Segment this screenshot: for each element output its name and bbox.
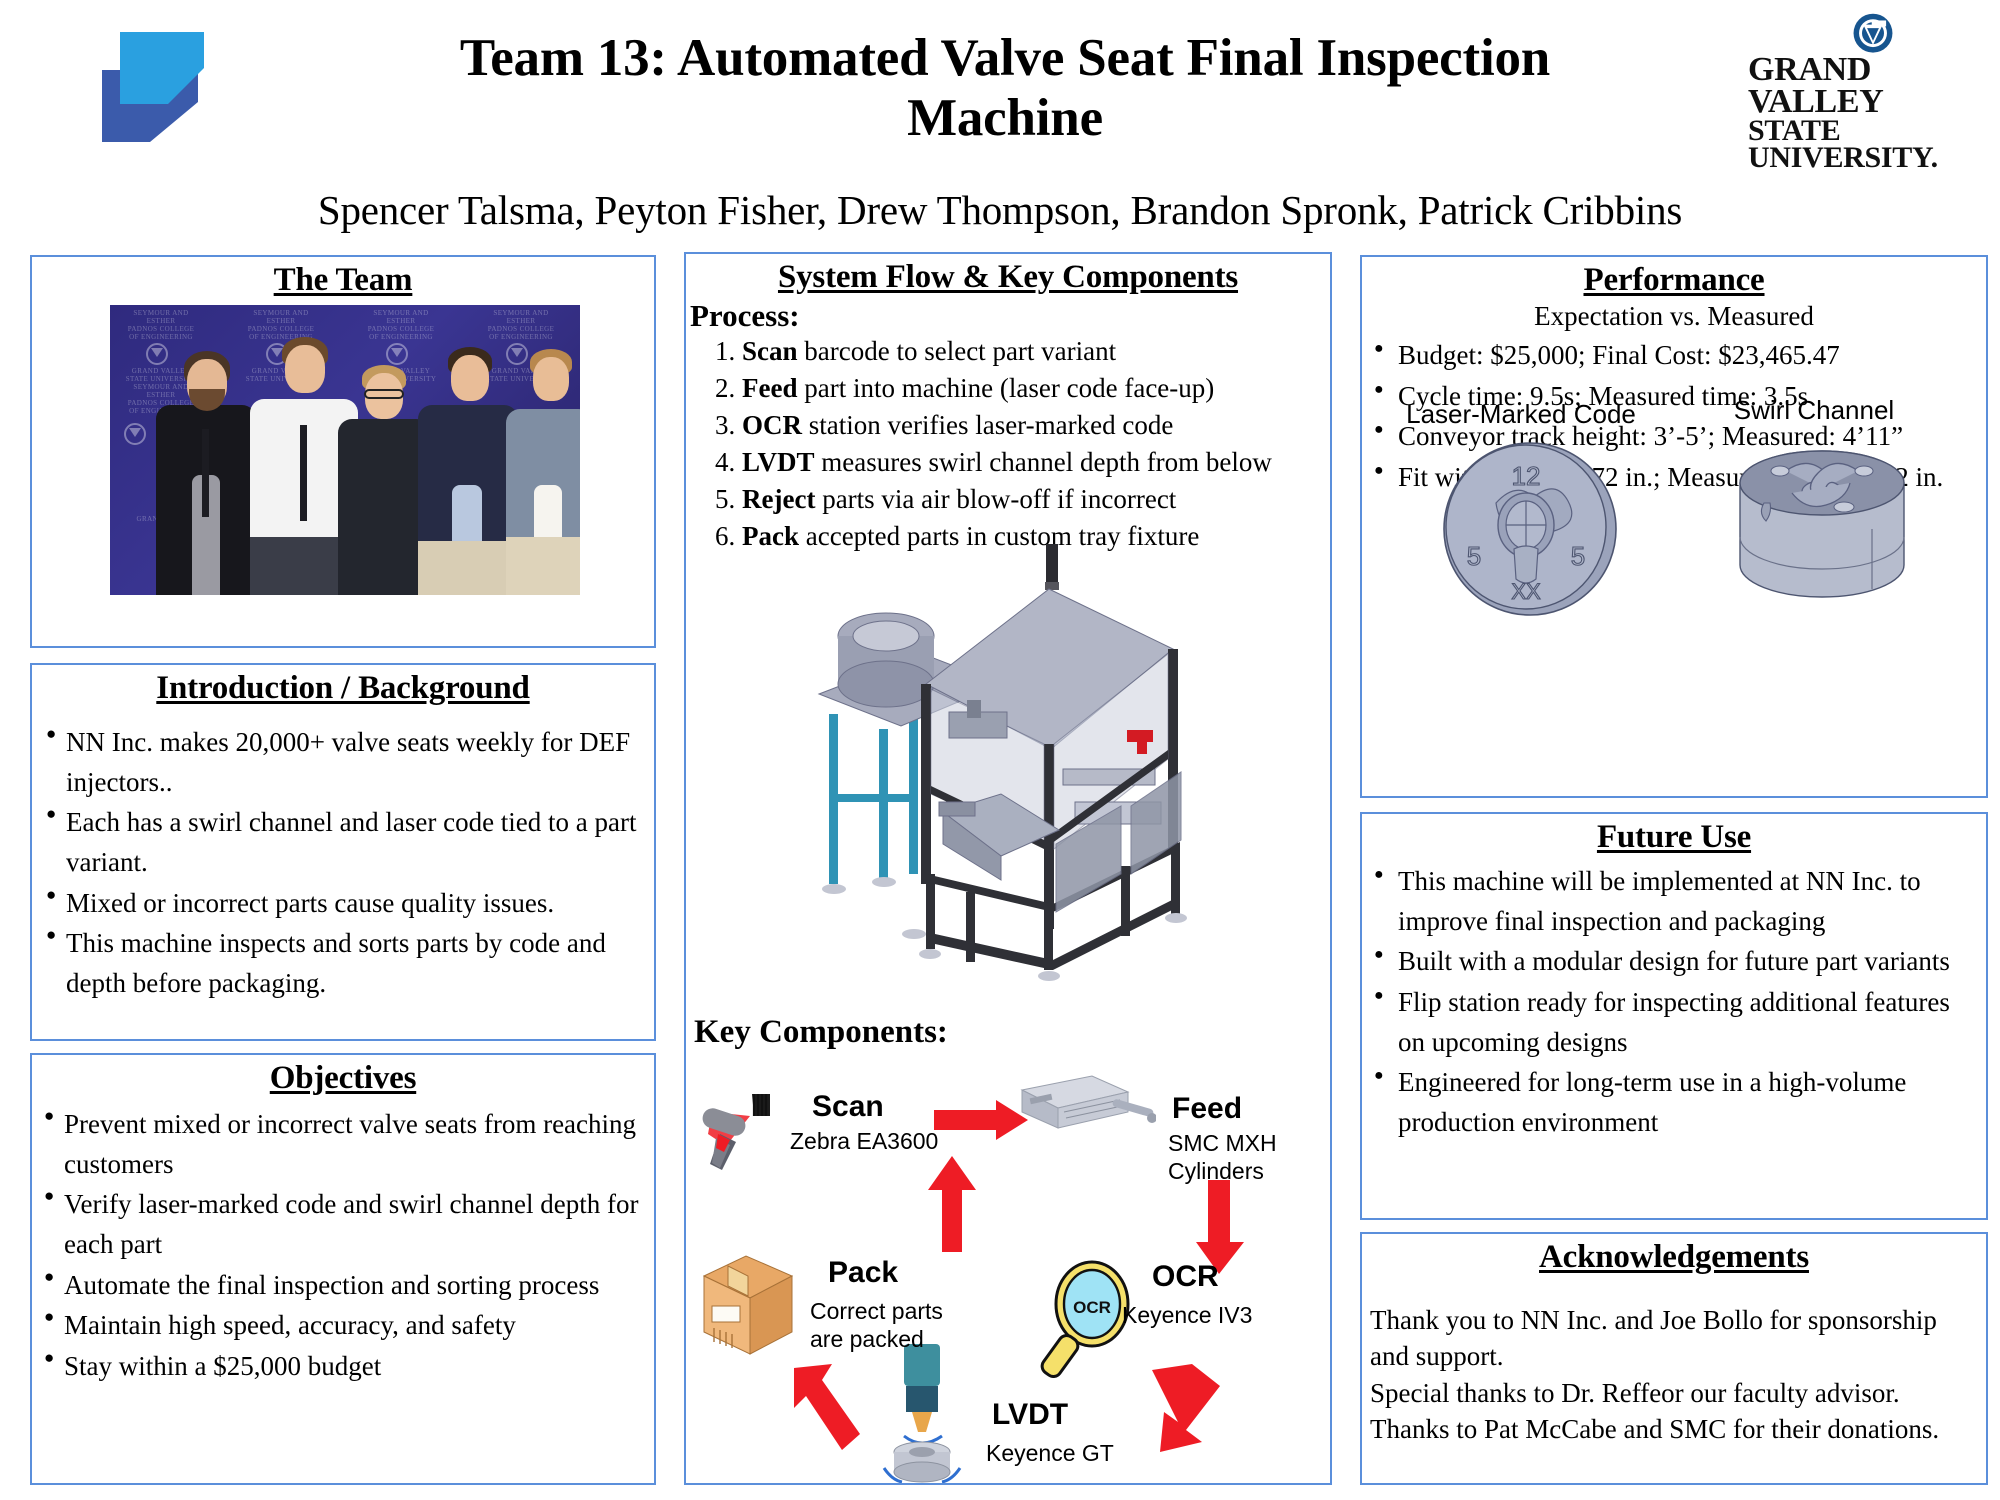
list-item: Prevent mixed or incorrect valve seats f…	[42, 1105, 640, 1184]
ack-line: and support.	[1370, 1338, 1986, 1374]
figure-caption-swirl-channel: Swirl Channel	[1684, 395, 1944, 426]
step-text: barcode to select part variant	[798, 336, 1117, 366]
section-title-objectives: Objectives	[32, 1060, 654, 1097]
laser-marked-code-figure: 12 5 5 XX	[1434, 437, 1630, 617]
component-detail-ocr: Keyence IV3	[1122, 1302, 1252, 1330]
author-list: Spencer Talsma, Peyton Fisher, Drew Thom…	[230, 186, 1770, 234]
key-components-label: Key Components:	[694, 1014, 948, 1051]
gvsu-logo: GRAND VALLEY STATE UNIVERSITY.	[1748, 12, 1998, 172]
step-keyword: LVDT	[742, 447, 815, 477]
panel-future-use: Future Use This machine will be implemen…	[1360, 812, 1988, 1220]
figure-caption-laser-code: Laser-Marked Code	[1386, 399, 1656, 430]
page-title: Team 13: Automated Valve Seat Final Insp…	[370, 28, 1640, 149]
performance-subtitle: Expectation vs. Measured	[1362, 301, 1986, 332]
component-detail-scan: Zebra EA3600	[790, 1128, 938, 1156]
list-item: This machine will be implemented at NN I…	[1368, 862, 1974, 941]
panel-objectives: Objectives Prevent mixed or incorrect va…	[30, 1053, 656, 1485]
step-text: part into machine (laser code face-up)	[797, 373, 1214, 403]
panel-acknowledgements: Acknowledgements Thank you to NN Inc. an…	[1360, 1232, 1988, 1485]
process-step-list: Scan barcode to select part variant Feed…	[716, 334, 1330, 554]
ack-line: Thank you to NN Inc. and Joe Bollo for s…	[1370, 1302, 1986, 1338]
step-text: station verifies laser-marked code	[802, 410, 1173, 440]
list-item: OCR station verifies laser-marked code	[742, 408, 1330, 444]
poster-header: Team 13: Automated Valve Seat Final Insp…	[0, 0, 2000, 250]
step-keyword: Feed	[742, 373, 797, 403]
section-title-introduction: Introduction / Background	[32, 670, 654, 707]
component-label-pack: Pack	[828, 1256, 898, 1290]
list-item: Stay within a $25,000 budget	[42, 1347, 640, 1387]
nn-inc-logo	[72, 32, 204, 142]
gvsu-shield-icon	[1825, 12, 1921, 54]
panel-system-flow: System Flow & Key Components Process: Sc…	[684, 252, 1332, 1485]
list-item: Reject parts via air blow-off if incorre…	[742, 482, 1330, 518]
list-item: Verify laser-marked code and swirl chann…	[42, 1185, 640, 1264]
section-title-performance: Performance	[1362, 262, 1986, 299]
step-keyword: Reject	[742, 484, 815, 514]
list-item: NN Inc. makes 20,000+ valve seats weekly…	[44, 723, 638, 802]
machine-cad-render	[791, 544, 1291, 984]
gvsu-wordmark-line1: GRAND VALLEY	[1748, 54, 1998, 117]
component-detail-feed: SMC MXH Cylinders	[1168, 1130, 1308, 1185]
step-keyword: Scan	[742, 336, 798, 366]
key-components-diagram: Scan Zebra EA3600 Feed SMC MXH Cylinders	[686, 1054, 1330, 1484]
ack-line: Special thanks to Dr. Reffeor our facult…	[1370, 1375, 1986, 1411]
pneumatic-cylinder-icon	[1016, 1070, 1156, 1160]
component-label-ocr: OCR	[1152, 1260, 1219, 1294]
list-item: LVDT measures swirl channel depth from b…	[742, 445, 1330, 481]
arrow-up-left-icon	[786, 1362, 876, 1458]
component-detail-lvdt: Keyence GT	[986, 1440, 1114, 1468]
swirl-channel-figure	[1722, 437, 1922, 617]
process-label: Process:	[690, 298, 1330, 334]
arrow-up-icon	[926, 1154, 978, 1254]
section-title-acknowledgements: Acknowledgements	[1362, 1239, 1986, 1276]
panel-the-team: The Team SEYMOUR AND ESTHERPADNOS COLLEG…	[30, 255, 656, 648]
component-label-feed: Feed	[1172, 1092, 1242, 1126]
list-item: Scan barcode to select part variant	[742, 334, 1330, 370]
section-title-system-flow: System Flow & Key Components	[686, 259, 1330, 296]
lvdt-probe-icon	[868, 1344, 978, 1484]
component-label-scan: Scan	[812, 1090, 884, 1124]
acknowledgements-body: Thank you to NN Inc. and Joe Bollo for s…	[1370, 1302, 1986, 1448]
team-photo: SEYMOUR AND ESTHERPADNOS COLLEGEOF ENGIN…	[110, 305, 580, 595]
step-keyword: OCR	[742, 410, 802, 440]
gvsu-wordmark-line2: STATE UNIVERSITY.	[1748, 117, 1998, 172]
component-label-lvdt: LVDT	[992, 1398, 1068, 1432]
svg-text:5: 5	[1571, 541, 1585, 571]
svg-text:XX: XX	[1511, 579, 1541, 604]
list-item: Flip station ready for inspecting additi…	[1368, 983, 1974, 1062]
list-item: Engineered for long-term use in a high-v…	[1368, 1063, 1974, 1142]
objectives-bullet-list: Prevent mixed or incorrect valve seats f…	[42, 1105, 640, 1387]
list-item: Budget: $25,000; Final Cost: $23,465.47	[1368, 336, 1978, 376]
list-item: This machine inspects and sorts parts by…	[44, 924, 638, 1003]
list-item: Built with a modular design for future p…	[1368, 942, 1974, 982]
list-item: Mixed or incorrect parts cause quality i…	[44, 884, 638, 924]
panel-performance: Performance Expectation vs. Measured Bud…	[1360, 255, 1988, 798]
future-use-bullet-list: This machine will be implemented at NN I…	[1368, 862, 1974, 1143]
list-item: Each has a swirl channel and laser code …	[44, 803, 638, 882]
section-title-future-use: Future Use	[1362, 819, 1986, 856]
list-item: Feed part into machine (laser code face-…	[742, 371, 1330, 407]
introduction-bullet-list: NN Inc. makes 20,000+ valve seats weekly…	[44, 723, 638, 1004]
ack-line: Thanks to Pat McCabe and SMC for their d…	[1370, 1411, 1986, 1447]
svg-text:12: 12	[1512, 461, 1541, 491]
step-text: measures swirl channel depth from below	[815, 447, 1272, 477]
svg-text:5: 5	[1467, 541, 1481, 571]
svg-text:OCR: OCR	[1073, 1298, 1111, 1317]
cardboard-box-icon	[694, 1250, 804, 1366]
list-item: Maintain high speed, accuracy, and safet…	[42, 1306, 640, 1346]
component-detail-pack: Correct parts are packed	[810, 1298, 982, 1353]
list-item: Automate the final inspection and sortin…	[42, 1266, 640, 1306]
arrow-down-left-icon	[1138, 1364, 1230, 1460]
panel-introduction-background: Introduction / Background NN Inc. makes …	[30, 663, 656, 1041]
section-title-team: The Team	[32, 262, 654, 299]
barcode-scanner-icon	[696, 1090, 796, 1180]
step-text: parts via air blow-off if incorrect	[815, 484, 1176, 514]
